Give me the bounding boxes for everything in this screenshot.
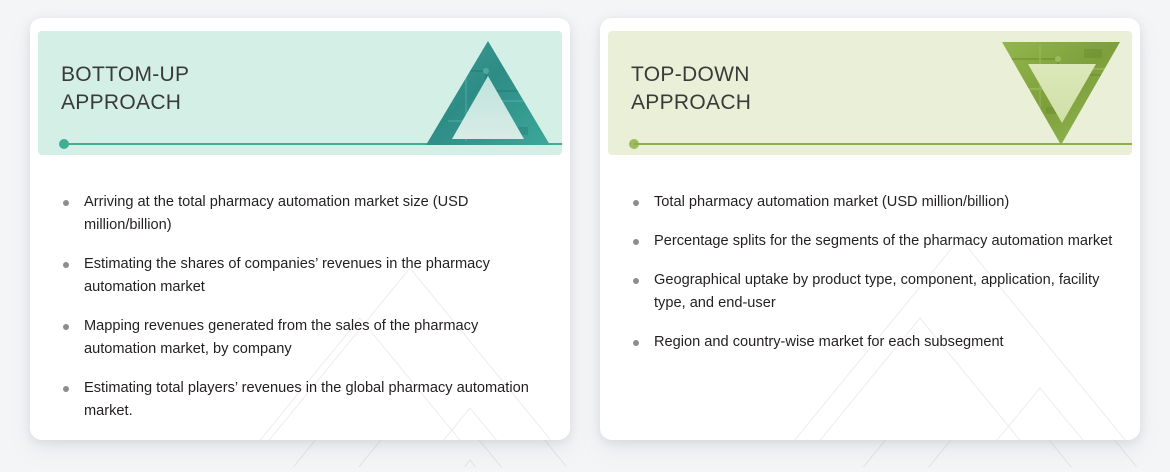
bullet-list-bottom-up: Arriving at the total pharmacy automatio… <box>52 191 544 423</box>
list-item: Estimating total players’ revenues in th… <box>52 377 544 423</box>
list-item: Estimating the shares of companies’ reve… <box>52 253 544 299</box>
list-item-text: Estimating the shares of companies’ reve… <box>84 256 490 295</box>
list-item: Arriving at the total pharmacy automatio… <box>52 191 544 237</box>
list-item-text: Geographical uptake by product type, com… <box>654 272 1099 311</box>
list-item-text: Estimating total players’ revenues in th… <box>84 380 529 419</box>
list-item-text: Percentage splits for the segments of th… <box>654 233 1112 249</box>
card-body-top-down: Total pharmacy automation market (USD mi… <box>600 155 1140 440</box>
list-item: Geographical uptake by product type, com… <box>622 269 1114 315</box>
bullet-list-top-down: Total pharmacy automation market (USD mi… <box>622 191 1114 354</box>
card-bottom-up[interactable]: BOTTOM-UP APPROACH <box>30 18 570 440</box>
page-title-bottom-up: BOTTOM-UP APPROACH <box>61 61 189 117</box>
bullet-dot-icon <box>633 278 639 284</box>
list-item-text: Arriving at the total pharmacy automatio… <box>84 194 468 233</box>
list-item-text: Region and country-wise market for each … <box>654 334 1004 350</box>
bullet-dot-icon <box>63 324 69 330</box>
card-header-bottom-up: BOTTOM-UP APPROACH <box>38 31 562 155</box>
bullet-dot-icon <box>633 200 639 206</box>
card-header-top-down: TOP-DOWN APPROACH <box>608 31 1132 155</box>
bullet-dot-icon <box>63 200 69 206</box>
list-item-text: Total pharmacy automation market (USD mi… <box>654 194 1009 210</box>
bullet-dot-icon <box>633 340 639 346</box>
list-item: Percentage splits for the segments of th… <box>622 230 1114 253</box>
triangle-down-icon <box>996 31 1126 155</box>
list-item: Total pharmacy automation market (USD mi… <box>622 191 1114 214</box>
bullet-dot-icon <box>63 262 69 268</box>
list-item: Region and country-wise market for each … <box>622 331 1114 354</box>
card-body-bottom-up: Arriving at the total pharmacy automatio… <box>30 155 570 440</box>
list-item-text: Mapping revenues generated from the sale… <box>84 318 478 357</box>
bullet-dot-icon <box>633 239 639 245</box>
triangle-up-icon <box>426 31 556 155</box>
cards-row: BOTTOM-UP APPROACH <box>0 0 1170 467</box>
list-item: Mapping revenues generated from the sale… <box>52 315 544 361</box>
card-top-down[interactable]: TOP-DOWN APPROACH <box>600 18 1140 440</box>
page-title-top-down: TOP-DOWN APPROACH <box>631 61 751 117</box>
bullet-dot-icon <box>63 386 69 392</box>
